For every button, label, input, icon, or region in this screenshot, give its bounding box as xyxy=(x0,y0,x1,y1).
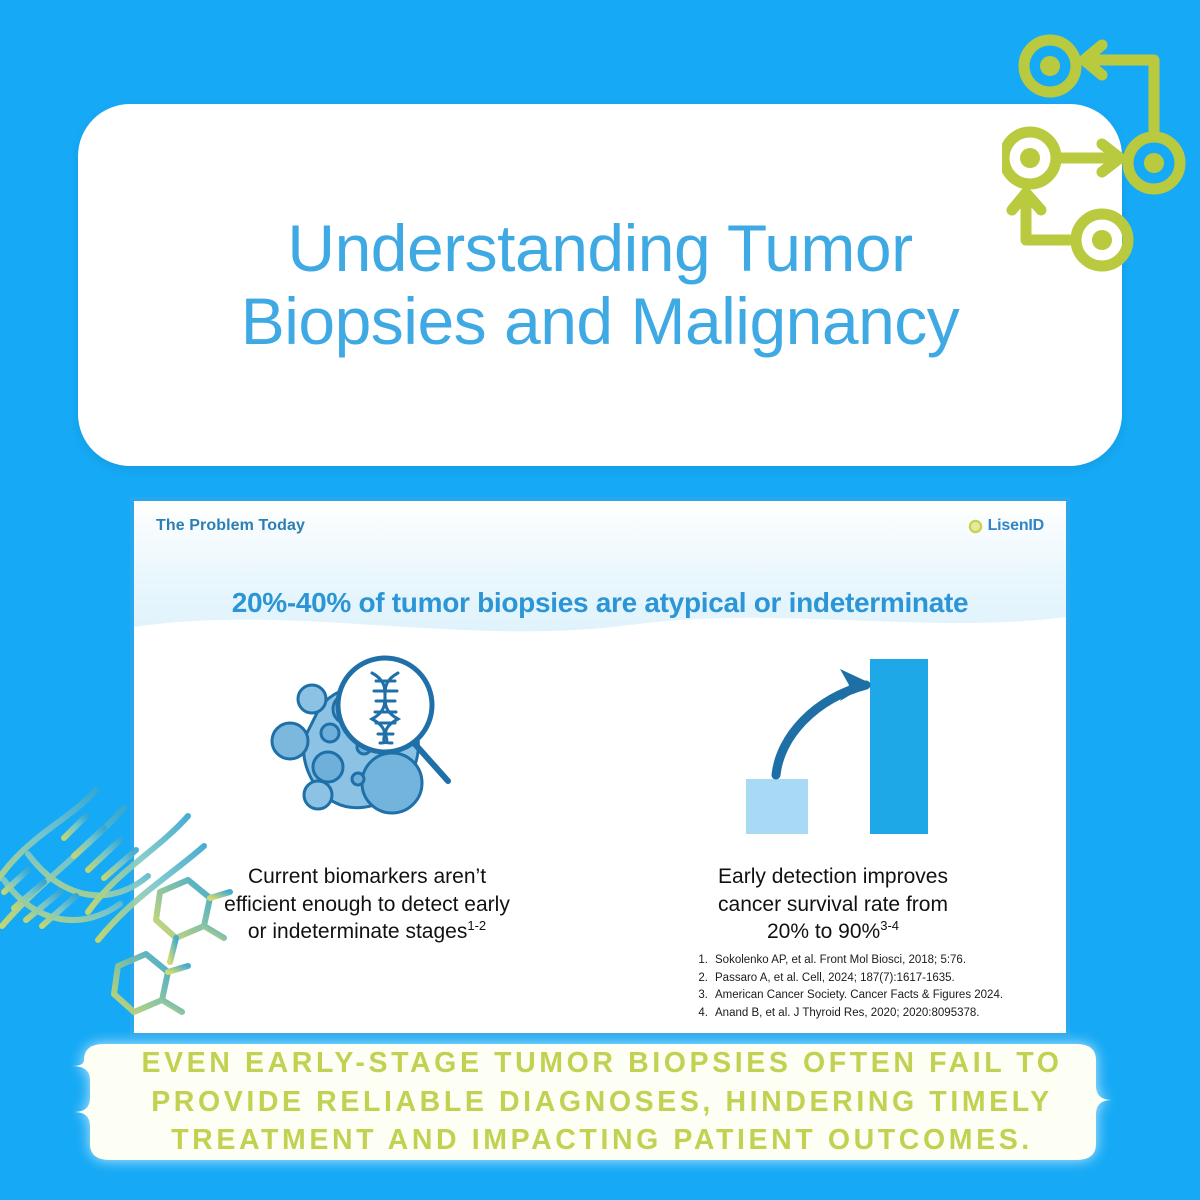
column-biomarkers: Current biomarkers aren’t efficient enou… xyxy=(134,651,600,946)
column-caption-biomarkers: Current biomarkers aren’t efficient enou… xyxy=(224,863,510,946)
slide-eyebrow: The Problem Today xyxy=(156,517,305,535)
reference-number: 2. xyxy=(698,970,715,988)
reference-text: Passaro A, et al. Cell, 2024; 187(7):161… xyxy=(715,970,955,988)
reference-text: American Cancer Society. Cancer Facts & … xyxy=(715,987,1003,1005)
reference-item: 4. Anand B, et al. J Thyroid Res, 2020; … xyxy=(698,1005,1048,1023)
title-card: Understanding Tumor Biopsies and Maligna… xyxy=(78,104,1122,466)
reference-text: Sokolenko AP, et al. Front Mol Biosci, 2… xyxy=(715,952,966,970)
brand-logo: LisenID xyxy=(968,517,1044,535)
banner-text: EVEN EARLY-STAGE TUMOR BIOPSIES OFTEN FA… xyxy=(62,1042,1142,1162)
column-early-detection: Early detection improves cancer survival… xyxy=(600,651,1066,946)
caption-text: Early detection improves cancer survival… xyxy=(718,865,948,943)
reference-item: 1. Sokolenko AP, et al. Front Mol Biosci… xyxy=(698,952,1048,970)
slide-header: The Problem Today LisenID xyxy=(156,517,1044,535)
reference-number: 3. xyxy=(698,987,715,1005)
reference-number: 1. xyxy=(698,952,715,970)
slide-headline: 20%-40% of tumor biopsies are atypical o… xyxy=(134,587,1066,619)
bottom-caption-banner: EVEN EARLY-STAGE TUMOR BIOPSIES OFTEN FA… xyxy=(62,1042,1142,1162)
lisenid-logo-mark-icon xyxy=(968,519,983,534)
reference-number: 4. xyxy=(698,1005,715,1023)
page-title: Understanding Tumor Biopsies and Maligna… xyxy=(181,212,1020,357)
column-caption-early-detection: Early detection improves cancer survival… xyxy=(718,863,948,946)
reference-text: Anand B, et al. J Thyroid Res, 2020; 202… xyxy=(715,1005,979,1023)
growth-bar-chart-arrow-illustration xyxy=(718,651,948,841)
reference-item: 2. Passaro A, et al. Cell, 2024; 187(7):… xyxy=(698,970,1048,988)
references-list: 1. Sokolenko AP, et al. Front Mol Biosci… xyxy=(698,952,1048,1023)
brand-name: LisenID xyxy=(988,517,1044,535)
caption-superscript: 1-2 xyxy=(467,918,486,933)
caption-superscript: 3-4 xyxy=(880,918,899,933)
reference-item: 3. American Cancer Society. Cancer Facts… xyxy=(698,987,1048,1005)
slide-columns: Current biomarkers aren’t efficient enou… xyxy=(134,651,1066,946)
slide-card: The Problem Today LisenID 20%-40% of tum… xyxy=(130,497,1070,1037)
tumor-cell-magnifier-dna-illustration xyxy=(252,651,482,841)
